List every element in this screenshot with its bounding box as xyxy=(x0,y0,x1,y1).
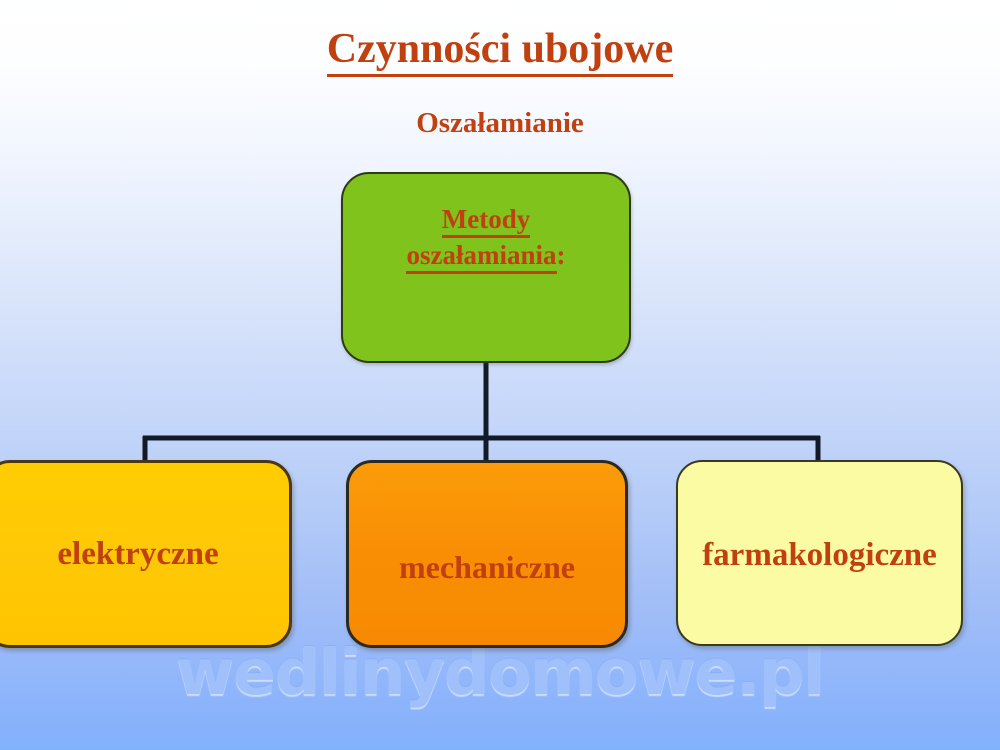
slide-canvas: wedlinydomowe.pl Czynności ubojowe Oszał… xyxy=(0,0,1000,750)
node-root-label-line1: Metody xyxy=(442,204,530,238)
page-title: Czynności ubojowe xyxy=(0,25,1000,73)
node-child-mechanical-label: mechaniczne xyxy=(399,549,575,586)
node-child-pharmacological[interactable]: farmakologiczne xyxy=(676,460,963,646)
node-root-methods[interactable]: Metodyoszałamiania: xyxy=(341,172,631,363)
node-child-electric-label: elektryczne xyxy=(57,536,218,573)
node-root-label: Metodyoszałamiania: xyxy=(406,202,565,273)
node-child-mechanical[interactable]: mechaniczne xyxy=(346,460,628,648)
node-child-electric[interactable]: elektryczne xyxy=(0,460,292,648)
page-subtitle: Oszałamianie xyxy=(0,107,1000,140)
node-child-pharmacological-label: farmakologiczne xyxy=(702,537,937,574)
node-root-label-line2: oszałamiania xyxy=(406,240,556,274)
page-title-text: Czynności ubojowe xyxy=(327,26,674,77)
node-root-label-suffix: : xyxy=(557,240,566,270)
